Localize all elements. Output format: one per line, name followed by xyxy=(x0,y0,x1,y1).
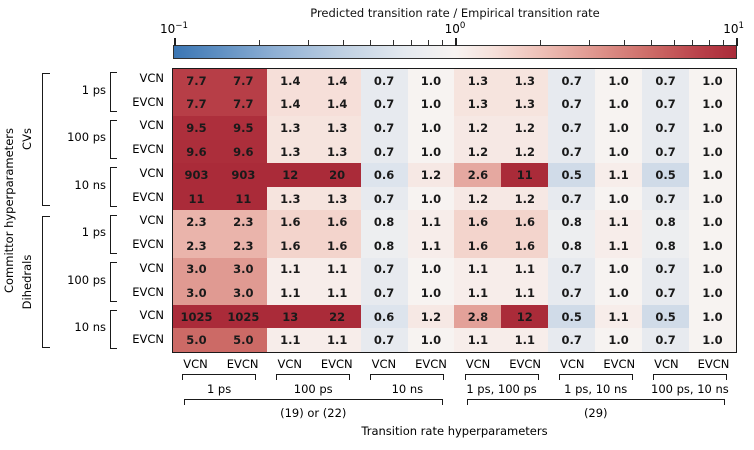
heatmap-cell: 1.1 xyxy=(314,258,361,282)
colorbar-tick-mark xyxy=(370,40,371,46)
heatmap-cell: 1.0 xyxy=(689,187,736,211)
heatmap-cell: 1.6 xyxy=(314,210,361,234)
heatmap-cell: 7.7 xyxy=(220,93,267,117)
heatmap-cell: 0.7 xyxy=(548,187,595,211)
heatmap-cell: 0.8 xyxy=(361,210,408,234)
x-tick-label-evcn: EVCN xyxy=(501,357,549,371)
x-bracket-leaf-pair xyxy=(653,374,727,380)
colorbar-tick-mark xyxy=(428,40,429,46)
y-tick-label-vcn: VCN xyxy=(120,120,164,132)
heatmap-cell: 1.1 xyxy=(595,163,642,187)
heatmap-cell: 1.1 xyxy=(454,258,501,282)
colorbar-tick-mark xyxy=(442,40,443,46)
heatmap-row: 90390312200.61.22.6110.51.10.51.0 xyxy=(173,163,736,187)
heatmap-cell: 1.1 xyxy=(595,234,642,258)
heatmap-cell: 9.6 xyxy=(173,140,220,164)
heatmap-cell: 1.3 xyxy=(267,116,314,140)
colorbar-tick-mid-exponent: 0 xyxy=(460,21,466,31)
colorbar-gradient xyxy=(174,46,736,58)
heatmap-cell: 0.5 xyxy=(548,163,595,187)
colorbar-tick-max: 101 xyxy=(723,22,744,36)
heatmap-cell: 2.6 xyxy=(454,163,501,187)
y-bracket-leaf-pair xyxy=(110,72,117,112)
x-tick-label-vcn: VCN xyxy=(172,357,220,371)
heatmap-table: 7.77.71.41.40.71.01.31.30.71.00.71.07.77… xyxy=(173,69,736,352)
heatmap-cell: 1.0 xyxy=(689,93,736,117)
heatmap-cell: 1.2 xyxy=(408,305,455,329)
heatmap-cell: 1.0 xyxy=(689,328,736,352)
heatmap-cell: 1.0 xyxy=(689,210,736,234)
heatmap-row: 2.32.31.61.60.81.11.61.60.81.10.81.0 xyxy=(173,210,736,234)
colorbar-tick-mark xyxy=(651,40,652,46)
heatmap-cell: 1.3 xyxy=(454,93,501,117)
y-tick-label-time: 100 ps xyxy=(54,275,106,287)
x-tick-label-vcn: VCN xyxy=(266,357,314,371)
heatmap-row: 3.03.01.11.10.71.01.11.10.71.00.71.0 xyxy=(173,258,736,282)
x-bracket-super-right xyxy=(467,399,726,405)
heatmap-grid: 7.77.71.41.40.71.01.31.30.71.00.71.07.77… xyxy=(172,68,737,353)
heatmap-cell: 0.6 xyxy=(361,163,408,187)
y-tick-label-time: 1 ps xyxy=(54,227,106,239)
heatmap-row: 5.05.01.11.10.71.01.11.10.71.00.71.0 xyxy=(173,328,736,352)
colorbar-title: Predicted transition rate / Empirical tr… xyxy=(173,6,737,20)
heatmap-cell: 1.2 xyxy=(501,187,548,211)
heatmap-cell: 20 xyxy=(314,163,361,187)
heatmap-cell: 1.1 xyxy=(501,258,548,282)
x-bracket-leaf-pair xyxy=(465,374,539,380)
colorbar-tick-mid-mantissa: 10 xyxy=(445,22,460,36)
colorbar-tick-mark xyxy=(174,38,176,46)
colorbar-tick-mark xyxy=(540,40,541,46)
heatmap-cell: 1.3 xyxy=(267,140,314,164)
heatmap-cell: 3.0 xyxy=(220,258,267,282)
x-tick-label-super: (19) or (22) xyxy=(184,406,443,420)
heatmap-row: 11111.31.30.71.01.21.20.71.00.71.0 xyxy=(173,187,736,211)
y-tick-label-evcn: EVCN xyxy=(120,287,164,299)
heatmap-cell: 5.0 xyxy=(220,328,267,352)
heatmap-cell: 2.8 xyxy=(454,305,501,329)
heatmap-cell: 1.0 xyxy=(408,258,455,282)
y-bracket-leaf-pair xyxy=(110,120,117,160)
heatmap-cell: 0.7 xyxy=(642,258,689,282)
y-tick-label-vcn: VCN xyxy=(120,73,164,85)
heatmap-cell: 1.0 xyxy=(595,328,642,352)
heatmap-cell: 1.1 xyxy=(501,328,548,352)
y-tick-label-vcn: VCN xyxy=(120,215,164,227)
y-tick-label-category: CVs xyxy=(20,68,36,211)
heatmap-cell: 0.8 xyxy=(642,234,689,258)
heatmap-cell: 0.7 xyxy=(548,93,595,117)
heatmap-cell: 11 xyxy=(220,187,267,211)
heatmap-row: 1025102513220.61.22.8120.51.10.51.0 xyxy=(173,305,736,329)
heatmap-cell: 1.0 xyxy=(595,187,642,211)
heatmap-cell: 0.7 xyxy=(642,187,689,211)
heatmap-cell: 1.0 xyxy=(408,281,455,305)
heatmap-cell: 1.0 xyxy=(408,93,455,117)
y-tick-label-time: 10 ns xyxy=(54,180,106,192)
heatmap-cell: 1.0 xyxy=(595,140,642,164)
heatmap-cell: 903 xyxy=(220,163,267,187)
heatmap-cell: 1.0 xyxy=(689,69,736,93)
heatmap-cell: 1.0 xyxy=(595,93,642,117)
heatmap-cell: 1.3 xyxy=(314,187,361,211)
colorbar-tick-mark xyxy=(393,40,394,46)
heatmap-cell: 1.4 xyxy=(314,69,361,93)
heatmap-cell: 2.3 xyxy=(220,234,267,258)
heatmap-cell: 1.0 xyxy=(689,281,736,305)
y-tick-label-vcn: VCN xyxy=(120,168,164,180)
y-tick-label-vcn: VCN xyxy=(120,310,164,322)
x-tick-label-evcn: EVCN xyxy=(313,357,361,371)
heatmap-cell: 1.2 xyxy=(501,140,548,164)
heatmap-cell: 9.5 xyxy=(173,116,220,140)
heatmap-cell: 9.5 xyxy=(220,116,267,140)
x-tick-label-group: 100 ps, 10 ns xyxy=(625,382,754,396)
heatmap-cell: 0.7 xyxy=(361,281,408,305)
x-tick-label-vcn: VCN xyxy=(360,357,408,371)
heatmap-cell: 1.1 xyxy=(595,305,642,329)
heatmap-cell: 0.5 xyxy=(642,163,689,187)
heatmap-cell: 0.5 xyxy=(642,305,689,329)
heatmap-cell: 9.6 xyxy=(220,140,267,164)
y-axis-label: Committor hyperparameters xyxy=(2,68,20,353)
heatmap-cell: 0.7 xyxy=(548,116,595,140)
heatmap-cell: 22 xyxy=(314,305,361,329)
heatmap-row: 3.03.01.11.10.71.01.11.10.71.00.71.0 xyxy=(173,281,736,305)
heatmap-cell: 1.1 xyxy=(314,328,361,352)
colorbar-tick-mark xyxy=(308,40,309,46)
heatmap-cell: 1.6 xyxy=(314,234,361,258)
heatmap-cell: 1.2 xyxy=(501,116,548,140)
x-tick-label-evcn: EVCN xyxy=(595,357,643,371)
heatmap-cell: 3.0 xyxy=(173,258,220,282)
colorbar-tick-max-exponent: 1 xyxy=(739,21,745,31)
heatmap-cell: 2.3 xyxy=(173,210,220,234)
y-bracket-leaf-pair xyxy=(110,310,117,350)
heatmap-cell: 0.7 xyxy=(548,69,595,93)
y-tick-label-time: 100 ps xyxy=(54,132,106,144)
heatmap-cell: 1.3 xyxy=(454,69,501,93)
heatmap-cell: 1.1 xyxy=(408,234,455,258)
y-bracket-category xyxy=(42,73,50,206)
y-tick-label-evcn: EVCN xyxy=(120,97,164,109)
colorbar-tick-mark xyxy=(411,40,412,46)
colorbar-tick-mark xyxy=(624,40,625,46)
y-bracket-category xyxy=(42,216,50,349)
heatmap-cell: 1.0 xyxy=(689,234,736,258)
heatmap-cell: 1.0 xyxy=(689,305,736,329)
heatmap-cell: 12 xyxy=(267,163,314,187)
x-tick-label-evcn: EVCN xyxy=(689,357,737,371)
heatmap-cell: 0.7 xyxy=(642,281,689,305)
heatmap-cell: 1.1 xyxy=(267,258,314,282)
heatmap-cell: 1.3 xyxy=(314,140,361,164)
colorbar-tick-mark xyxy=(723,40,724,46)
heatmap-cell: 0.7 xyxy=(548,258,595,282)
heatmap-cell: 0.7 xyxy=(642,69,689,93)
colorbar-tick-max-mantissa: 10 xyxy=(723,22,738,36)
y-tick-label-evcn: EVCN xyxy=(120,192,164,204)
heatmap-row: 9.59.51.31.30.71.01.21.20.71.00.71.0 xyxy=(173,116,736,140)
heatmap-cell: 11 xyxy=(173,187,220,211)
heatmap-cell: 7.7 xyxy=(173,69,220,93)
heatmap-cell: 0.7 xyxy=(361,116,408,140)
heatmap-row: 9.69.61.31.30.71.01.21.20.71.00.71.0 xyxy=(173,140,736,164)
heatmap-cell: 0.7 xyxy=(642,93,689,117)
heatmap-cell: 1.0 xyxy=(408,187,455,211)
heatmap-cell: 1.0 xyxy=(689,116,736,140)
heatmap-cell: 1.4 xyxy=(267,69,314,93)
heatmap-cell: 0.7 xyxy=(548,328,595,352)
heatmap-cell: 1.0 xyxy=(408,328,455,352)
heatmap-cell: 1.4 xyxy=(314,93,361,117)
heatmap-cell: 3.0 xyxy=(173,281,220,305)
heatmap-cell: 0.7 xyxy=(642,140,689,164)
heatmap-cell: 1.1 xyxy=(454,328,501,352)
heatmap-cell: 903 xyxy=(173,163,220,187)
colorbar-tick-mark xyxy=(674,40,675,46)
heatmap-cell: 1.0 xyxy=(689,140,736,164)
heatmap-cell: 1.6 xyxy=(454,210,501,234)
heatmap-cell: 1.1 xyxy=(454,281,501,305)
x-bracket-leaf-pair xyxy=(182,374,256,380)
heatmap-cell: 1.6 xyxy=(501,234,548,258)
heatmap-cell: 1.2 xyxy=(454,140,501,164)
heatmap-cell: 2.3 xyxy=(173,234,220,258)
heatmap-cell: 1.2 xyxy=(454,187,501,211)
y-tick-label-evcn: EVCN xyxy=(120,144,164,156)
heatmap-cell: 1.0 xyxy=(595,116,642,140)
heatmap-cell: 1.3 xyxy=(501,93,548,117)
heatmap-cell: 1.2 xyxy=(408,163,455,187)
colorbar-tick-mark xyxy=(736,38,738,46)
colorbar-tick-mark xyxy=(455,38,457,46)
heatmap-cell: 0.7 xyxy=(361,328,408,352)
heatmap-cell: 0.8 xyxy=(548,210,595,234)
heatmap-cell: 7.7 xyxy=(173,93,220,117)
heatmap-cell: 0.7 xyxy=(361,140,408,164)
colorbar-tick-mark xyxy=(259,40,260,46)
heatmap-cell: 0.7 xyxy=(361,187,408,211)
x-tick-label-super: (29) xyxy=(467,406,726,420)
heatmap-cell: 2.3 xyxy=(220,210,267,234)
heatmap-cell: 1.4 xyxy=(267,93,314,117)
heatmap-cell: 1.3 xyxy=(267,187,314,211)
heatmap-cell: 1.0 xyxy=(595,69,642,93)
colorbar-tick-mid: 100 xyxy=(173,22,737,36)
heatmap-cell: 1.1 xyxy=(595,210,642,234)
x-bracket-leaf-pair xyxy=(276,374,350,380)
x-tick-label-evcn: EVCN xyxy=(407,357,455,371)
heatmap-cell: 0.5 xyxy=(548,305,595,329)
heatmap-cell: 1.1 xyxy=(314,281,361,305)
heatmap-cell: 1.0 xyxy=(408,140,455,164)
heatmap-cell: 1.0 xyxy=(689,163,736,187)
x-bracket-leaf-pair xyxy=(370,374,444,380)
heatmap-cell: 5.0 xyxy=(173,328,220,352)
heatmap-cell: 0.8 xyxy=(642,210,689,234)
y-tick-label-time: 10 ns xyxy=(54,322,106,334)
heatmap-cell: 1.1 xyxy=(267,281,314,305)
heatmap-cell: 0.7 xyxy=(361,258,408,282)
colorbar-tick-mark xyxy=(343,40,344,46)
heatmap-cell: 0.6 xyxy=(361,305,408,329)
heatmap-cell: 11 xyxy=(501,163,548,187)
heatmap-cell: 0.8 xyxy=(361,234,408,258)
heatmap-cell: 1.0 xyxy=(689,258,736,282)
heatmap-cell: 1.6 xyxy=(267,210,314,234)
y-tick-label-time: 1 ps xyxy=(54,85,106,97)
heatmap-cell: 1.0 xyxy=(595,281,642,305)
heatmap-cell: 0.7 xyxy=(361,69,408,93)
heatmap-cell: 0.7 xyxy=(361,93,408,117)
heatmap-cell: 1.1 xyxy=(408,210,455,234)
heatmap-cell: 0.7 xyxy=(642,116,689,140)
heatmap-cell: 1.0 xyxy=(408,116,455,140)
colorbar-tick-mark xyxy=(709,40,710,46)
heatmap-cell: 1.1 xyxy=(501,281,548,305)
heatmap-cell: 1.2 xyxy=(454,116,501,140)
colorbar-tick-mark xyxy=(589,40,590,46)
x-tick-label-vcn: VCN xyxy=(454,357,502,371)
heatmap-cell: 1.0 xyxy=(595,258,642,282)
heatmap-cell: 1.6 xyxy=(454,234,501,258)
heatmap-cell: 1.6 xyxy=(267,234,314,258)
x-tick-label-vcn: VCN xyxy=(642,357,690,371)
heatmap-cell: 1.0 xyxy=(408,69,455,93)
heatmap-row: 7.77.71.41.40.71.01.31.30.71.00.71.0 xyxy=(173,93,736,117)
x-axis-label: Transition rate hyperparameters xyxy=(172,424,737,438)
colorbar-tick-mark xyxy=(692,40,693,46)
y-tick-label-evcn: EVCN xyxy=(120,334,164,346)
heatmap-cell: 3.0 xyxy=(220,281,267,305)
y-tick-label-category: Dihedrals xyxy=(20,211,36,354)
x-bracket-super-left xyxy=(184,399,443,405)
x-tick-label-evcn: EVCN xyxy=(219,357,267,371)
figure-canvas: Predicted transition rate / Empirical tr… xyxy=(0,0,754,450)
heatmap-row: 7.77.71.41.40.71.01.31.30.71.00.71.0 xyxy=(173,69,736,93)
y-bracket-leaf-pair xyxy=(110,167,117,207)
heatmap-cell: 1025 xyxy=(220,305,267,329)
heatmap-cell: 0.7 xyxy=(548,281,595,305)
heatmap-cell: 0.7 xyxy=(642,328,689,352)
heatmap-cell: 7.7 xyxy=(220,69,267,93)
y-tick-label-vcn: VCN xyxy=(120,263,164,275)
heatmap-cell: 1.6 xyxy=(501,210,548,234)
x-tick-label-vcn: VCN xyxy=(548,357,596,371)
heatmap-cell: 0.7 xyxy=(548,140,595,164)
heatmap-cell: 12 xyxy=(501,305,548,329)
heatmap-row: 2.32.31.61.60.81.11.61.60.81.10.81.0 xyxy=(173,234,736,258)
heatmap-cell: 1025 xyxy=(173,305,220,329)
y-tick-label-evcn: EVCN xyxy=(120,239,164,251)
heatmap-cell: 1.3 xyxy=(501,69,548,93)
colorbar xyxy=(173,45,737,59)
heatmap-cell: 13 xyxy=(267,305,314,329)
heatmap-cell: 1.3 xyxy=(314,116,361,140)
heatmap-cell: 0.8 xyxy=(548,234,595,258)
y-bracket-leaf-pair xyxy=(110,262,117,302)
x-bracket-leaf-pair xyxy=(559,374,633,380)
heatmap-cell: 1.1 xyxy=(267,328,314,352)
y-bracket-leaf-pair xyxy=(110,215,117,255)
